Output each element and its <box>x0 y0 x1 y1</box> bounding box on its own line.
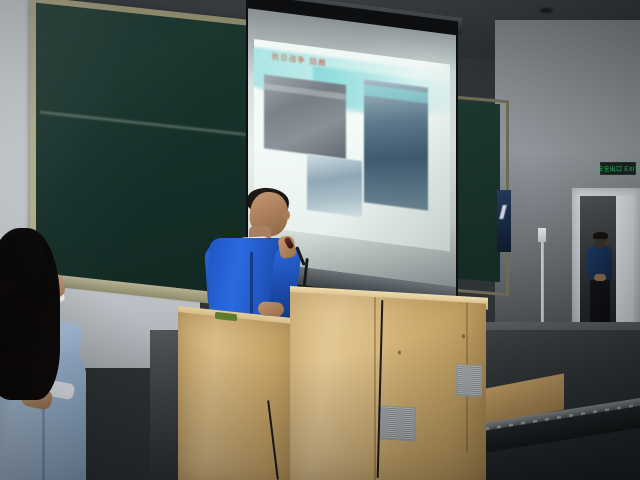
speaker-hand-on-desk <box>258 301 285 317</box>
wall-mounted-box <box>538 228 546 242</box>
podium-screw <box>462 334 465 338</box>
podium-vent-grille <box>378 405 416 441</box>
doorway-person-hands <box>594 274 606 281</box>
photo-highlight <box>364 85 429 104</box>
lecture-hall-photo: 抗日战争 回顾 安全出口 EXIT <box>0 0 640 480</box>
exit-sign-label: 安全出口 EXIT <box>597 164 639 173</box>
ceiling-light-icon <box>540 8 553 13</box>
wall-poster <box>497 190 511 252</box>
slide-photo-right <box>364 80 429 211</box>
podium-panel-seam <box>374 297 376 480</box>
speaker-ear <box>283 210 290 220</box>
exit-sign: 安全出口 EXIT <box>600 162 636 175</box>
slide-photo-lower-center <box>307 154 362 217</box>
speaker-jacket-placket <box>250 252 253 314</box>
doorway-person-legs <box>590 278 610 324</box>
slide-photo-upper-left <box>264 74 346 159</box>
photo-highlight <box>264 83 346 100</box>
podium-screw <box>398 350 401 354</box>
podium-rear-section <box>178 312 300 480</box>
door-leaf <box>616 196 634 326</box>
foreground-person-head <box>0 232 46 286</box>
doorway-person-hair <box>593 232 608 239</box>
wall-conduit <box>541 242 544 330</box>
podium-vent-grille <box>456 364 482 398</box>
podium-front-panel <box>290 292 486 480</box>
